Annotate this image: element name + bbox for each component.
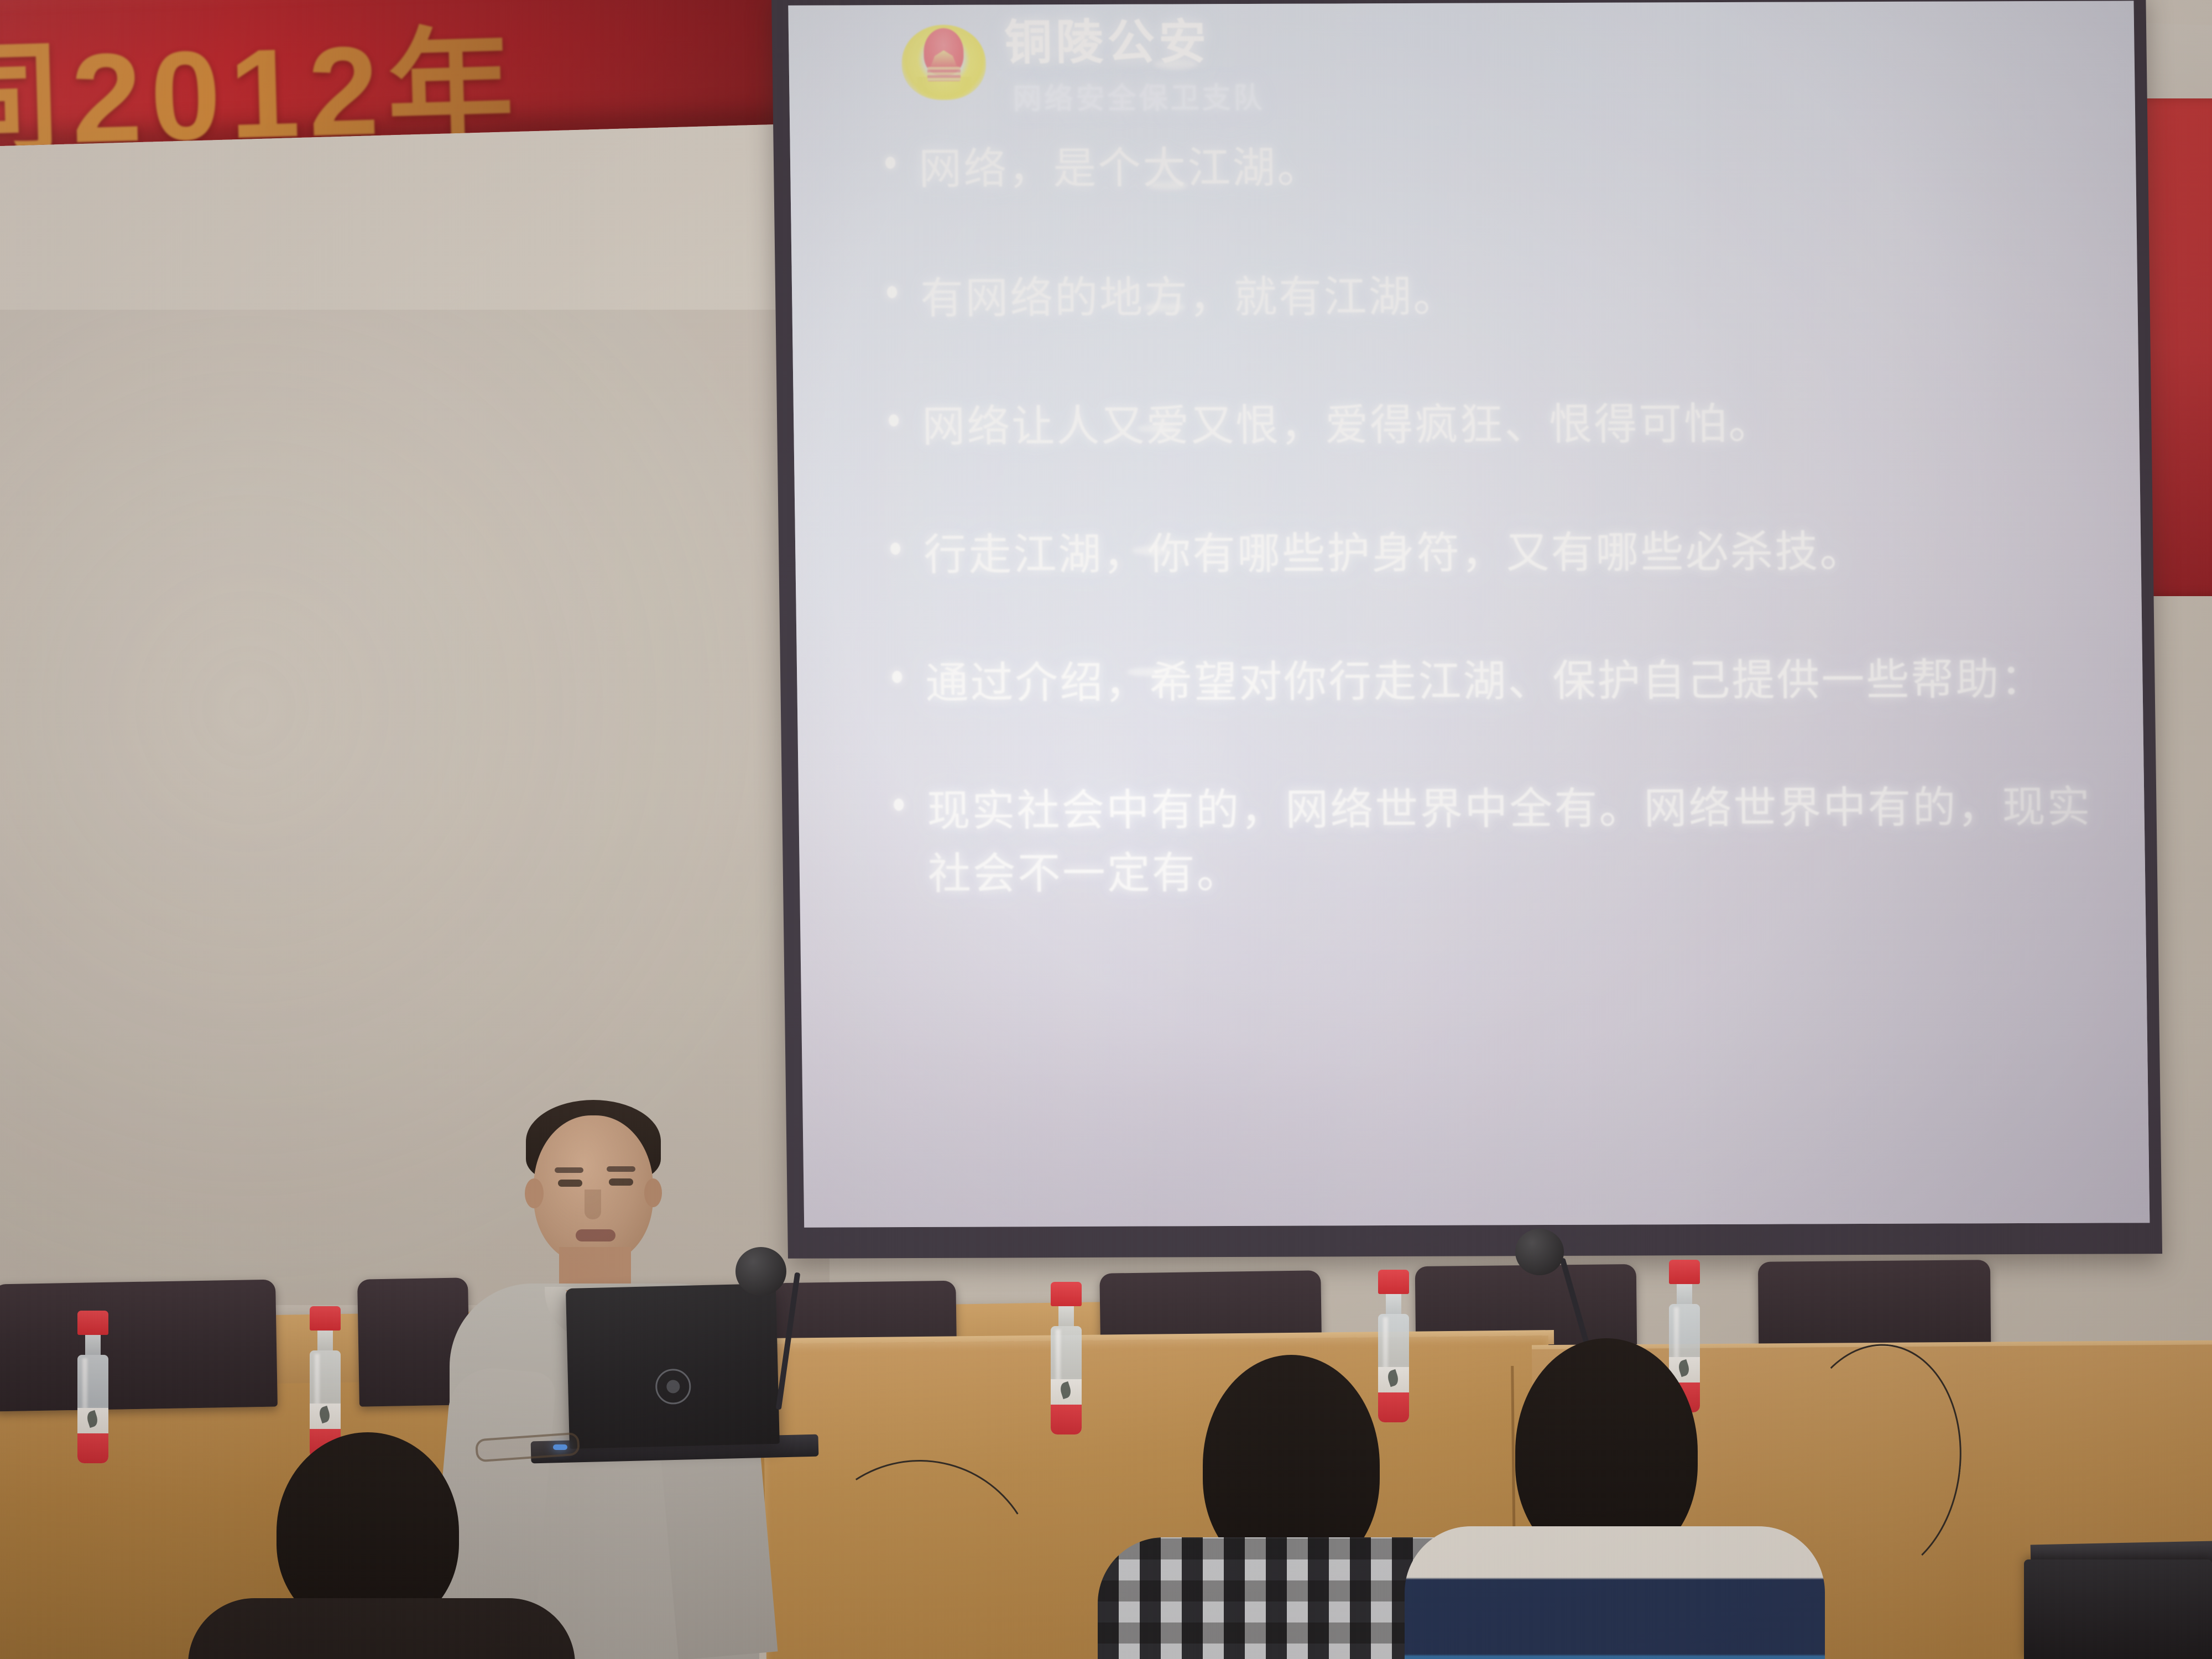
slide-bullet-list: 网络，是个大江湖。 有网络的地方，就有江湖。 网络让人又爱又恨，爱得疯狂、恨得可… <box>885 134 2101 906</box>
slide-unit-name: 网络安全保卫支队 <box>1013 75 1265 117</box>
water-bottle[interactable] <box>77 1311 108 1463</box>
presentation-slide: 铜陵公安 网络安全保卫支队 网络，是个大江湖。 有网络的地方，就有江湖。 <box>788 1 2150 1227</box>
list-item: 网络，是个大江湖。 <box>885 134 2092 201</box>
monitor <box>2024 1559 2212 1659</box>
photo-scene: 司2012年 铜陵公安 网络安全保卫支队 <box>0 0 2212 1659</box>
water-bottle[interactable] <box>1378 1270 1409 1422</box>
projection-screen: 铜陵公安 网络安全保卫支队 网络，是个大江湖。 有网络的地方，就有江湖。 <box>788 1 2150 1227</box>
audience-member <box>1203 1355 1380 1576</box>
microphone-icon <box>1515 1229 1564 1275</box>
bullet-dot-icon <box>887 286 897 298</box>
list-item: 网络让人又爱又恨，爱得疯狂、恨得可怕。 <box>889 391 2096 458</box>
banner-text: 司2012年 <box>0 0 524 147</box>
bullet-text: 网络，是个大江湖。 <box>918 137 1322 201</box>
red-banner: 司2012年 <box>0 0 811 147</box>
slide-org-name: 铜陵公安 <box>1004 18 1265 67</box>
list-item: 行走江湖，你有哪些护身符，又有哪些必杀技。 <box>890 519 2098 586</box>
projection-screen-frame: 铜陵公安 网络安全保卫支队 网络，是个大江湖。 有网络的地方，就有江湖。 <box>771 0 2162 1259</box>
list-item: 有网络的地方，就有江湖。 <box>887 263 2094 330</box>
bullet-text: 网络让人又爱又恨，爱得疯狂、恨得可怕。 <box>922 392 1774 458</box>
bullet-text: 通过介绍，希望对你行走江湖、保护自己提供一些帮助： <box>925 648 2046 714</box>
list-item: 通过介绍，希望对你行走江湖、保护自己提供一些帮助： <box>892 648 2099 714</box>
bullet-dot-icon <box>890 542 900 555</box>
bullet-dot-icon <box>894 799 904 811</box>
audience-member <box>1515 1338 1698 1565</box>
bullet-text: 现实社会中有的，网络世界中全有。网络世界中有的，现实社会不一定有。 <box>927 776 2101 906</box>
bullet-dot-icon <box>889 414 899 426</box>
slide-header: 铜陵公安 网络安全保卫支队 <box>899 18 1265 117</box>
bullet-dot-icon <box>885 156 895 169</box>
water-bottle[interactable] <box>1051 1282 1082 1434</box>
laptop[interactable] <box>566 1284 780 1449</box>
bullet-dot-icon <box>892 671 902 683</box>
police-emblem-icon <box>899 19 989 103</box>
audience-member <box>276 1432 459 1631</box>
bullet-text: 行走江湖，你有哪些护身符，又有哪些必杀技。 <box>924 520 1865 587</box>
chair <box>0 1280 278 1412</box>
list-item: 现实社会中有的，网络世界中全有。网络世界中有的，现实社会不一定有。 <box>894 776 2101 906</box>
dell-logo-icon <box>655 1369 692 1405</box>
bullet-text: 有网络的地方，就有江湖。 <box>920 265 1459 330</box>
microphone-icon <box>735 1247 786 1296</box>
